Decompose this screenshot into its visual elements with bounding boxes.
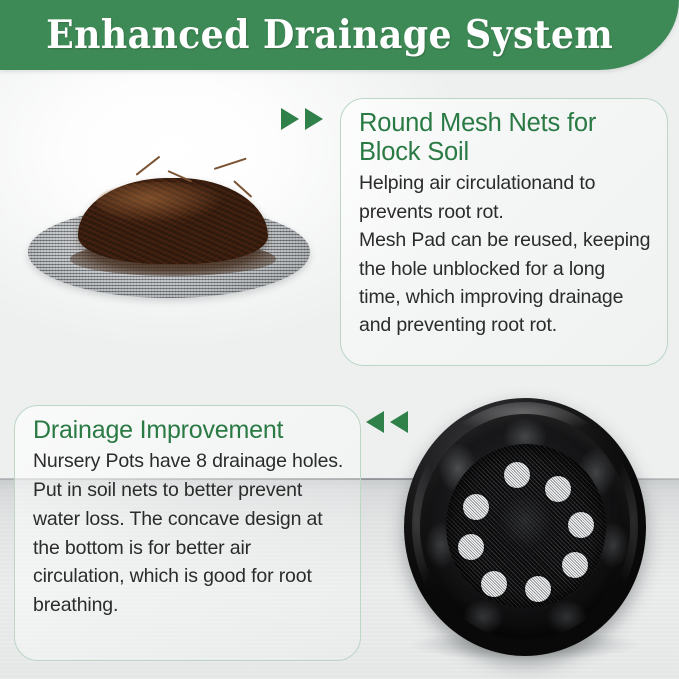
soil-highlight — [96, 182, 226, 222]
pot-body — [404, 398, 646, 656]
callout-heading: Drainage Improvement — [33, 416, 344, 444]
drainage-hole — [463, 494, 489, 520]
infographic-canvas: Enhanced Drainage System Round Mesh Nets… — [0, 0, 679, 679]
pot-base-center-dimple — [494, 494, 556, 554]
callout-body: Nursery Pots have 8 drainage holes. Put … — [33, 447, 344, 620]
arrow-group-left — [366, 411, 408, 433]
drainage-hole — [545, 476, 571, 502]
triangle-right-icon — [281, 108, 299, 130]
drainage-hole — [568, 512, 594, 538]
drainage-hole — [481, 571, 507, 597]
nursery-pot-photo — [404, 398, 646, 664]
arrow-group-right — [281, 108, 323, 130]
page-title: Enhanced Drainage System — [46, 12, 633, 58]
callout-drainage-improvement: Drainage Improvement Nursery Pots have 8… — [14, 405, 361, 661]
drainage-hole — [504, 462, 530, 488]
callout-heading: Round Mesh Nets for Block Soil — [359, 109, 651, 166]
drainage-hole — [525, 576, 551, 602]
callout-body: Helping air circulationand to prevents r… — [359, 169, 651, 340]
header-banner: Enhanced Drainage System — [0, 0, 679, 70]
triangle-right-icon — [305, 108, 323, 130]
drainage-hole — [562, 552, 588, 578]
triangle-left-icon — [366, 411, 384, 433]
callout-round-mesh-nets: Round Mesh Nets for Block Soil Helping a… — [340, 98, 668, 366]
drainage-hole — [458, 534, 484, 560]
soil-on-round-mesh-pad-photo — [18, 168, 318, 313]
